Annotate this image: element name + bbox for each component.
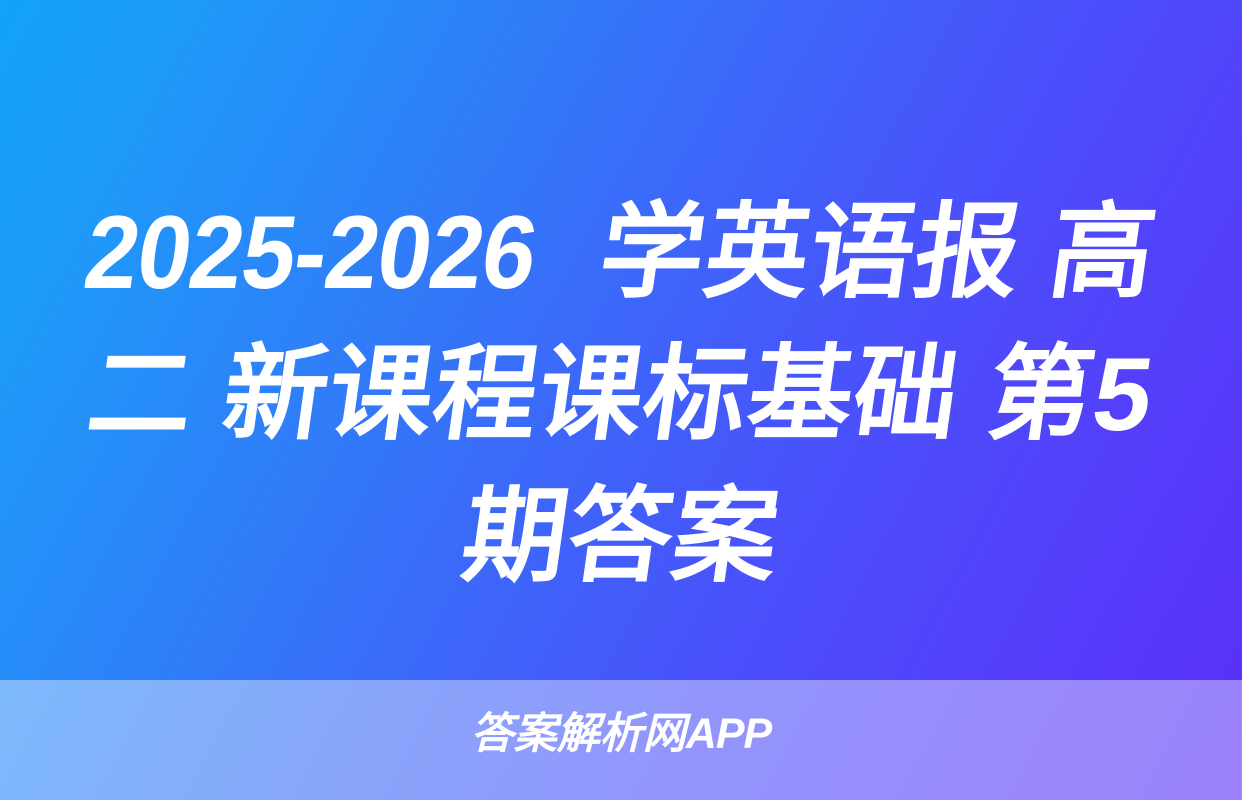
title-line-3-text: 期答案 <box>455 479 786 595</box>
poster-canvas: 2025-2026学英语报 高 二 新课程课标基础 第5 期答案 答案解析网AP… <box>0 0 1242 800</box>
page-title: 2025-2026学英语报 高 二 新课程课标基础 第5 期答案 <box>0 182 1242 608</box>
app-watermark: 答案解析网APP <box>471 711 771 757</box>
title-line-2-text: 二 新课程课标基础 第5 <box>81 337 1161 453</box>
app-watermark-latin: APP <box>686 711 771 757</box>
app-watermark-cn: 答案解析网 <box>471 710 686 758</box>
title-line-1-year-range: 2025-2026 <box>76 182 545 324</box>
title-line-2: 二 新课程课标基础 第5 <box>24 324 1218 466</box>
title-line-1-text: 学英语报 高 <box>593 195 1164 311</box>
footer-watermark-band: 答案解析网APP <box>0 680 1242 800</box>
title-line-1: 2025-2026学英语报 高 <box>24 182 1218 324</box>
title-line-3: 期答案 <box>24 466 1218 608</box>
